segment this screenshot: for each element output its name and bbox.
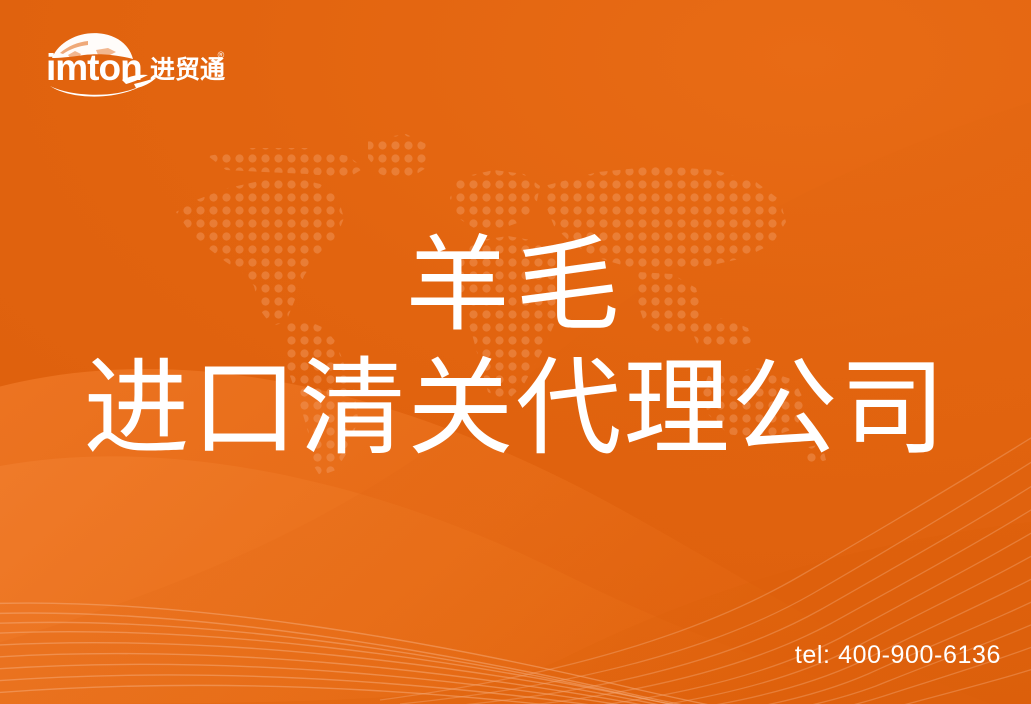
contact-phone[interactable]: tel: 400-900-6136 (795, 641, 1001, 670)
dotted-world-map (168, 126, 828, 478)
promo-banner: imton 进贸通 ® 羊毛 进口清关代理公司 tel: 400-900-613… (0, 0, 1031, 704)
registered-trademark-icon: ® (218, 50, 225, 60)
brand-logo[interactable]: imton 进贸通 ® (38, 28, 228, 98)
logo-wordmark: imton (46, 47, 142, 88)
logo-chinese-text: 进贸通 (150, 56, 225, 84)
